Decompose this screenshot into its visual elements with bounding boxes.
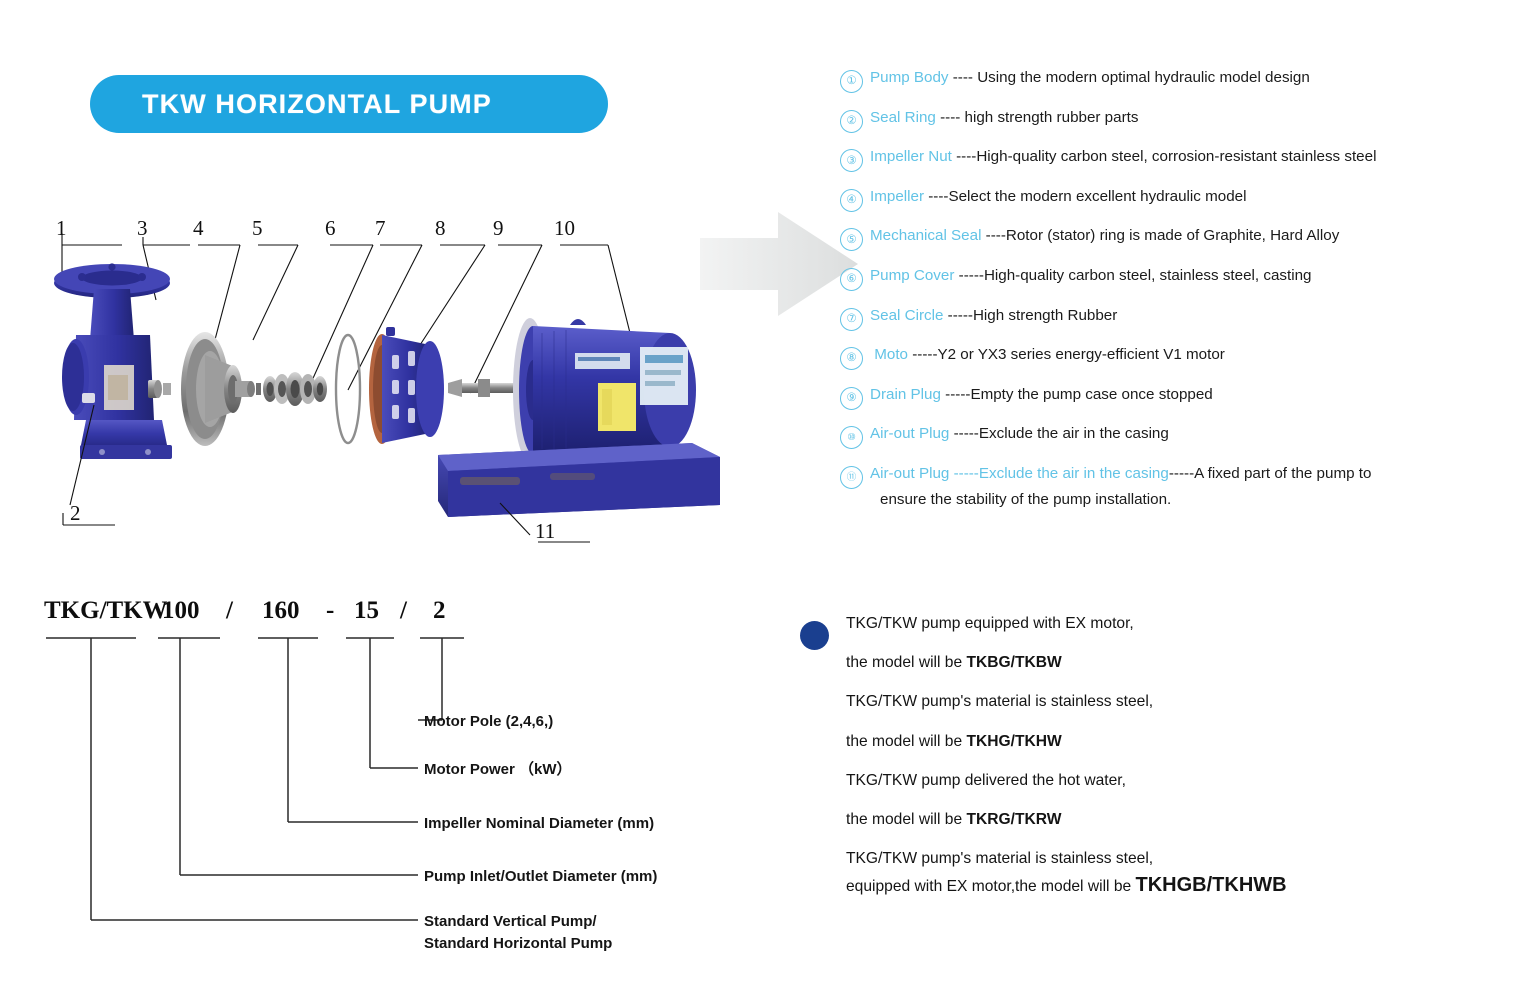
legend-description: High-quality carbon steel, stainless ste…	[984, 267, 1312, 284]
part-number-10: 10	[554, 216, 575, 240]
part-number-8: 8	[435, 216, 446, 240]
model-segment-inlet: 100	[162, 597, 200, 624]
model-leader-lines	[46, 638, 464, 920]
legend-item: ⑩ Air-out Plug -----Exclude the air in t…	[840, 424, 1500, 449]
variant-text: TKG/TKW pump delivered the hot water,	[846, 772, 1126, 789]
model-separator-1: /	[225, 597, 234, 624]
impeller-nut-graphic	[148, 380, 171, 398]
model-segment-series: TKG/TKW	[44, 597, 168, 624]
model-callout-impeller-diameter: Impeller Nominal Diameter (mm)	[424, 815, 654, 832]
legend-item: ⑤ Mechanical Seal ----Rotor (stator) rin…	[840, 226, 1500, 251]
legend-item: ⑪ Air-out Plug -----Exclude the air in t…	[840, 464, 1500, 489]
part-number-4: 4	[193, 216, 204, 240]
motor-shaft-graphic	[448, 379, 520, 397]
legend-number-icon: ①	[840, 70, 863, 93]
legend-item: ⑨ Drain Plug -----Empty the pump case on…	[840, 385, 1500, 410]
legend-number-icon: ⑧	[840, 347, 863, 370]
legend-item: ② Seal Ring ---- high strength rubber pa…	[840, 108, 1500, 133]
legend-item: ④ Impeller ----Select the modern excelle…	[840, 187, 1500, 212]
legend-separator: ----	[981, 227, 1005, 244]
legend-separator: -----	[949, 425, 979, 442]
legend-description: Select the modern excellent hydraulic mo…	[948, 188, 1246, 205]
variant-line: TKG/TKW pump delivered the hot water,	[798, 772, 1398, 791]
legend-number-icon: ②	[840, 110, 863, 133]
legend-part-name: Air-out Plug	[870, 425, 949, 442]
legend-separator: ----	[936, 109, 965, 126]
part-number-6: 6	[325, 216, 336, 240]
legend-part-name: Air-out Plug	[870, 465, 949, 482]
flow-arrow-icon	[700, 212, 860, 317]
legend-number-icon: ③	[840, 149, 863, 172]
model-variant-notes: TKG/TKW pump equipped with EX motor, the…	[798, 615, 1398, 917]
legend-number-icon: ⑨	[840, 387, 863, 410]
page-title-banner: TKW HORIZONTAL PUMP	[90, 75, 608, 133]
legend-description: Rotor (stator) ring is made of Graphite,…	[1006, 227, 1339, 244]
model-segment-impeller: 160	[262, 597, 300, 624]
legend-description-blue: Exclude the air in the casing	[979, 465, 1169, 482]
variant-line: TKG/TKW pump's material is stainless ste…	[798, 850, 1398, 869]
legend-item: ⑥ Pump Cover -----High-quality carbon st…	[840, 266, 1500, 291]
legend-number-icon: ⑦	[840, 308, 863, 331]
legend-number-icon: ⑥	[840, 268, 863, 291]
variant-model-code: TKHG/TKHW	[966, 733, 1061, 750]
part-number-7: 7	[375, 216, 386, 240]
variant-text: the model will be	[846, 654, 966, 671]
model-callout-motor-power: Motor Power （kW）	[424, 760, 572, 778]
legend-item: ⑧ Moto -----Y2 or YX3 series energy-effi…	[840, 345, 1500, 370]
legend-separator: -----	[943, 307, 973, 324]
legend-separator: ----	[952, 148, 976, 165]
pump-body-graphic	[54, 263, 172, 459]
part-number-1: 1	[56, 216, 67, 240]
motor-graphic	[513, 318, 696, 462]
legend-description: A fixed part of the pump to	[1194, 465, 1371, 482]
legend-description: High strength Rubber	[973, 307, 1117, 324]
legend-description: Exclude the air in the casing	[979, 425, 1169, 442]
legend-description: Using the modern optimal hydraulic model…	[977, 69, 1310, 86]
variant-model-code-large: TKHGB/TKHWB	[1136, 874, 1287, 896]
variant-line: TKG/TKW pump's material is stainless ste…	[798, 693, 1398, 712]
mechanical-seal-graphic	[256, 372, 327, 406]
legend-description: High-quality carbon steel, corrosion-res…	[976, 148, 1376, 165]
legend-separator: -----	[908, 346, 938, 363]
legend-number-icon: ⑤	[840, 228, 863, 251]
variant-line: the model will be TKBG/TKBW	[798, 654, 1398, 673]
variant-text: the model will be	[846, 811, 966, 828]
exploded-pump-diagram: 1 3 4 5 6 7 8 9 10	[30, 205, 720, 565]
impeller-graphic	[181, 332, 255, 446]
variant-line: the model will be TKHG/TKHW	[798, 733, 1398, 752]
legend-part-name: Mechanical Seal	[870, 227, 981, 244]
legend-separator: ----	[924, 188, 948, 205]
variant-text: the model will be	[846, 733, 966, 750]
model-callout-motor-pole: Motor Pole (2,4,6,)	[424, 713, 553, 730]
variant-text: TKG/TKW pump's material is stainless ste…	[846, 693, 1153, 710]
legend-part-name: Impeller	[870, 188, 924, 205]
legend-part-name: Seal Ring	[870, 109, 936, 126]
model-callout-inlet-diameter: Pump Inlet/Outlet Diameter (mm)	[424, 868, 657, 885]
part-number-3: 3	[137, 216, 148, 240]
legend-description-continued: ensure the stability of the pump install…	[840, 491, 1500, 508]
bullet-icon	[800, 621, 829, 650]
model-separator-3: /	[399, 597, 408, 624]
legend-item: ⑦ Seal Circle -----High strength Rubber	[840, 306, 1500, 331]
legend-separator: -----	[949, 465, 979, 482]
model-segment-power: 15	[354, 597, 379, 624]
variant-text: TKG/TKW pump equipped with EX motor,	[846, 615, 1134, 632]
part-number-11: 11	[535, 519, 555, 543]
legend-item: ③ Impeller Nut ----High-quality carbon s…	[840, 147, 1500, 172]
legend-separator: ----	[949, 69, 978, 86]
variant-line: equipped with EX motor,the model will be…	[798, 873, 1398, 897]
legend-description: Empty the pump case once stopped	[970, 386, 1212, 403]
legend-part-name: Pump Body	[870, 69, 949, 86]
variant-line: the model will be TKRG/TKRW	[798, 811, 1398, 830]
legend-part-name: Moto	[874, 346, 908, 363]
legend-separator: -----	[954, 267, 984, 284]
model-callout-standard-pump-line2: Standard Horizontal Pump	[424, 935, 612, 952]
model-separator-2: -	[326, 597, 334, 624]
legend-separator: -----	[941, 386, 971, 403]
legend-part-name: Pump Cover	[870, 267, 954, 284]
model-code-breakdown: TKG/TKW 100 / 160 - 15 / 2 Motor Pole (2…	[30, 590, 730, 970]
variant-text: equipped with EX motor,the model will be	[846, 878, 1136, 895]
model-segment-pole: 2	[433, 597, 446, 624]
legend-part-name: Drain Plug	[870, 386, 941, 403]
legend-description: high strength rubber parts	[965, 109, 1139, 126]
part-number-9: 9	[493, 216, 504, 240]
base-plate-graphic	[438, 443, 720, 517]
variant-model-code: TKBG/TKBW	[966, 654, 1061, 671]
legend-number-icon: ④	[840, 189, 863, 212]
pump-cover-graphic	[369, 327, 444, 444]
variant-line: TKG/TKW pump equipped with EX motor,	[798, 615, 1398, 634]
legend-item: ① Pump Body ---- Using the modern optima…	[840, 68, 1500, 93]
page-title: TKW HORIZONTAL PUMP	[90, 89, 492, 120]
legend-number-icon: ⑪	[840, 466, 863, 489]
variant-text: TKG/TKW pump's material is stainless ste…	[846, 850, 1153, 867]
legend-number-icon: ⑩	[840, 426, 863, 449]
variant-model-code: TKRG/TKRW	[966, 811, 1061, 828]
part-number-5: 5	[252, 216, 263, 240]
legend-separator-2: -----	[1169, 465, 1194, 482]
legend-part-name: Impeller Nut	[870, 148, 952, 165]
model-callout-standard-pump-line1: Standard Vertical Pump/	[424, 913, 597, 930]
parts-legend-list: ① Pump Body ---- Using the modern optima…	[840, 68, 1500, 508]
part-number-2: 2	[70, 501, 81, 525]
legend-description: Y2 or YX3 series energy-efficient V1 mot…	[938, 346, 1225, 363]
legend-part-name: Seal Circle	[870, 307, 943, 324]
